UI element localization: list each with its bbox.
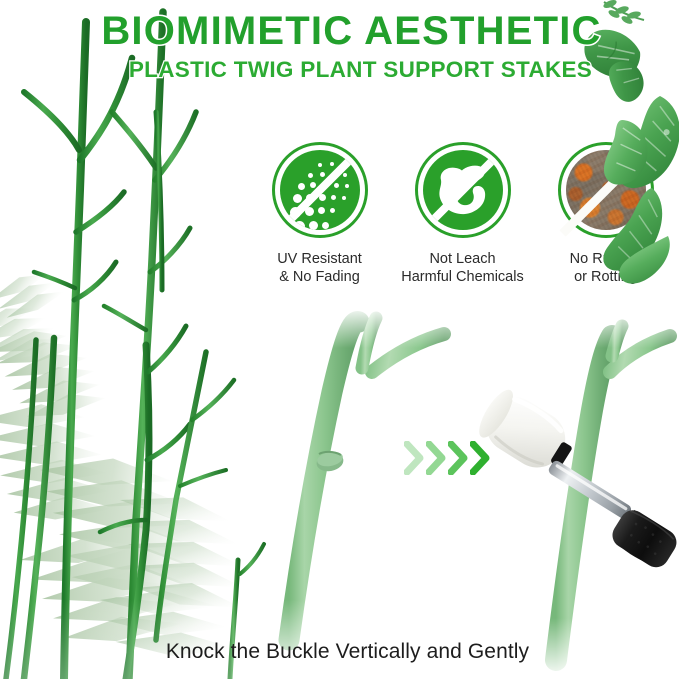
- monstera-leaf-cluster: [0, 0, 679, 679]
- product-infographic: BIOMIMETIC AESTHETIC PLASTIC TWIG PLANT …: [0, 0, 679, 679]
- instruction-caption: Knock the Buckle Vertically and Gently: [0, 640, 679, 664]
- headline-block: BIOMIMETIC AESTHETIC PLASTIC TWIG PLANT …: [0, 8, 679, 85]
- page-subtitle: PLASTIC TWIG PLANT SUPPORT STAKES: [42, 55, 679, 85]
- page-title: BIOMIMETIC AESTHETIC: [24, 8, 679, 54]
